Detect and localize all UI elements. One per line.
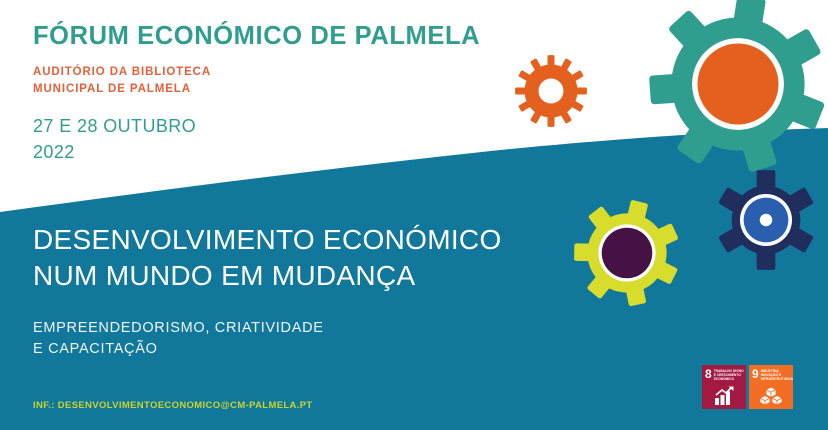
sdg-badge-8: 8 TRABALHO DIGNO E CRESCIMENTO ECONÓMICO	[702, 365, 746, 409]
headline-line-2: NUM MUNDO EM MUDANÇA	[33, 258, 593, 294]
poster-canvas: FÓRUM ECONÓMICO DE PALMELA AUDITÓRIO DA …	[0, 0, 828, 430]
sdg-badge-8-number: 8	[705, 368, 712, 380]
page-title: FÓRUM ECONÓMICO DE PALMELA	[33, 22, 503, 50]
sdg-badge-9-number: 9	[752, 368, 759, 380]
sdg-badge-9-label: INDÚSTRIA, INOVAÇÃO E INFRAESTRUTURAS	[761, 368, 793, 381]
headline: DESENVOLVIMENTO ECONÓMICO NUM MUNDO EM M…	[33, 222, 593, 294]
venue-text: AUDITÓRIO DA BIBLIOTECA MUNICIPAL DE PAL…	[33, 64, 503, 97]
sdg-badge-9: 9 INDÚSTRIA, INOVAÇÃO E INFRAESTRUTURAS	[749, 365, 793, 409]
contact-email[interactable]: INF.: DESENVOLVIMENTOECONOMICO@CM-PALMEL…	[33, 400, 313, 411]
headline-text-block: DESENVOLVIMENTO ECONÓMICO NUM MUNDO EM M…	[33, 222, 593, 361]
sdg-badge-9-label-line-3: INFRAESTRUTURAS	[761, 377, 793, 381]
venue-line-2: MUNICIPAL DE PALMELA	[33, 81, 503, 98]
event-dates: 27 E 28 OUTUBRO 2022	[33, 113, 503, 165]
theme-line-1: EMPREENDEDORISMO, CRIATIVIDADE	[33, 318, 593, 340]
theme-text: EMPREENDEDORISMO, CRIATIVIDADE E CAPACIT…	[33, 318, 593, 362]
header-text-block: FÓRUM ECONÓMICO DE PALMELA AUDITÓRIO DA …	[33, 22, 503, 166]
date-line-1: 27 E 28 OUTUBRO	[33, 113, 503, 139]
sdg-badge-group: 8 TRABALHO DIGNO E CRESCIMENTO ECONÓMICO…	[702, 365, 793, 409]
venue-line-1: AUDITÓRIO DA BIBLIOTECA	[33, 64, 503, 81]
date-line-2: 2022	[33, 139, 503, 165]
theme-line-2: E CAPACITAÇÃO	[33, 339, 593, 361]
stacked-cubes-icon	[759, 386, 783, 406]
sdg-badge-8-label-line-3: ECONÓMICO	[714, 377, 734, 381]
headline-line-1: DESENVOLVIMENTO ECONÓMICO	[33, 222, 593, 258]
sdg-badge-8-header: 8 TRABALHO DIGNO E CRESCIMENTO ECONÓMICO	[702, 365, 746, 381]
growth-chart-arrow-icon	[713, 386, 735, 406]
sdg-badge-8-label: TRABALHO DIGNO E CRESCIMENTO ECONÓMICO	[714, 368, 744, 381]
sdg-badge-9-header: 9 INDÚSTRIA, INOVAÇÃO E INFRAESTRUTURAS	[749, 365, 793, 381]
